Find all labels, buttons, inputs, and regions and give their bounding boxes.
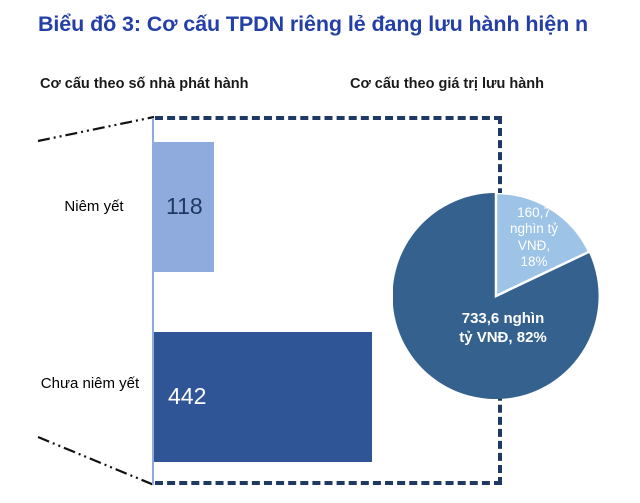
leader-line-bottom xyxy=(38,437,154,485)
left-panel-heading: Cơ cấu theo số nhà phát hành xyxy=(40,76,249,92)
leader-line-top xyxy=(38,117,154,141)
pie-label-chua-niem-yet: 733,6 nghìn tỷ VNĐ, 82% xyxy=(432,310,574,348)
bar-value-chua-niem-yet: 442 xyxy=(168,383,206,410)
page-title: Biểu đồ 3: Cơ cấu TPDN riêng lẻ đang lưu… xyxy=(38,12,640,37)
category-label-chua-niem-yet: Chưa niêm yết xyxy=(38,375,142,392)
category-label-niem-yet: Niêm yết xyxy=(46,198,142,215)
bar-value-niem-yet: 118 xyxy=(166,193,203,220)
pie-label-niem-yet: 160,7 nghìn tỷ VNĐ, 18% xyxy=(498,205,570,271)
right-panel-heading: Cơ cấu theo giá trị lưu hành xyxy=(350,76,544,92)
